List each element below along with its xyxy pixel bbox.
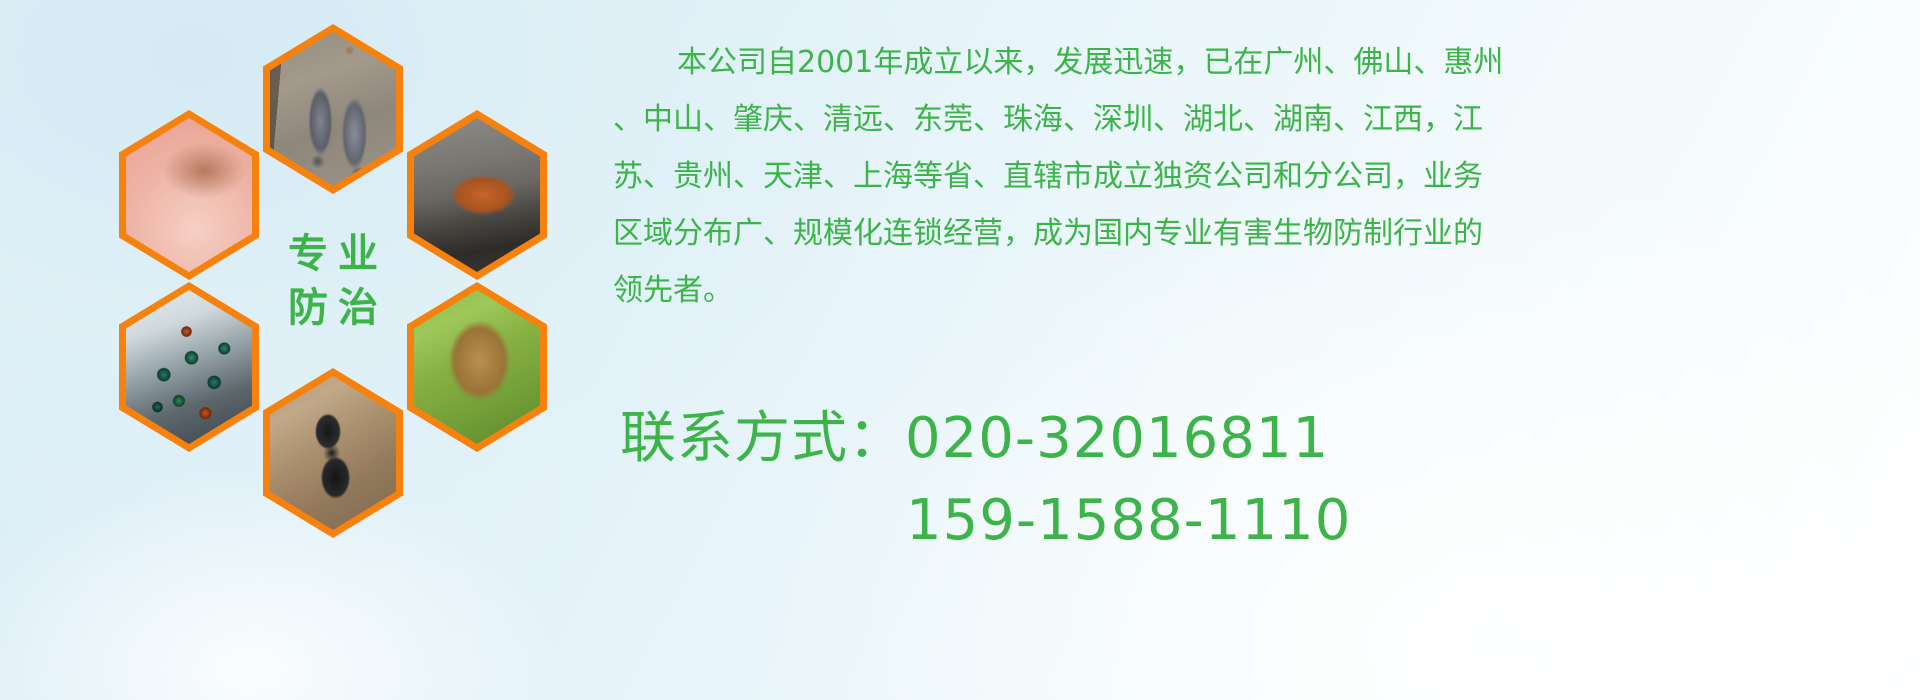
hex-inner — [126, 290, 252, 444]
hex-cell-slogan: 专业 防治 — [263, 196, 403, 366]
hex-cell-rats — [263, 24, 403, 194]
hex-inner — [414, 290, 540, 444]
contact-primary-phone[interactable]: 联系方式：020-32016811 — [620, 398, 1910, 480]
description-line: 本公司自2001年成立以来，发展迅速，已在广州、佛山、惠州 — [613, 34, 1905, 91]
contact-secondary-phone[interactable]: 159-1588-1110 — [620, 480, 1910, 562]
hex-cell-shieldbug — [407, 282, 547, 452]
honeycomb-photo-collage: 专业 防治 — [0, 0, 600, 700]
photo-flies — [126, 290, 252, 444]
contact-block: 联系方式：020-32016811 159-1588-1110 — [620, 398, 1910, 562]
photo-mosquito — [126, 118, 252, 272]
hex-inner: 专业 防治 — [263, 196, 403, 366]
hex-inner — [270, 376, 396, 530]
slogan-line-1: 专业 — [278, 234, 388, 274]
promo-banner: 专业 防治 本公司自2001年成立以来，发展迅速，已在广州、佛山 — [0, 0, 1920, 700]
slogan-text: 专业 防治 — [263, 196, 403, 366]
banner-content: 本公司自2001年成立以来，发展迅速，已在广州、佛山、惠州 、中山、肇庆、清远、… — [600, 0, 1920, 700]
hex-inner — [270, 32, 396, 186]
photo-cockroach — [414, 118, 540, 272]
description-line: 、中山、肇庆、清远、东莞、珠海、深圳、湖北、湖南、江西，江 — [613, 91, 1905, 148]
photo-shieldbug — [414, 290, 540, 444]
description-line: 区域分布广、规模化连锁经营，成为国内专业有害生物防制行业的 — [613, 205, 1905, 262]
hex-cell-ant — [263, 368, 403, 538]
photo-ant — [270, 376, 396, 530]
hex-cell-flies — [119, 282, 259, 452]
description-line: 领先者。 — [613, 262, 1905, 319]
photo-rats — [270, 32, 396, 186]
company-description: 本公司自2001年成立以来，发展迅速，已在广州、佛山、惠州 、中山、肇庆、清远、… — [613, 34, 1905, 319]
hex-cell-cockroach — [407, 110, 547, 280]
hex-inner — [414, 118, 540, 272]
hex-inner — [126, 118, 252, 272]
hex-cell-mosquito — [119, 110, 259, 280]
slogan-line-2: 防治 — [278, 288, 388, 328]
description-line: 苏、贵州、天津、上海等省、直辖市成立独资公司和分公司，业务 — [613, 148, 1905, 205]
